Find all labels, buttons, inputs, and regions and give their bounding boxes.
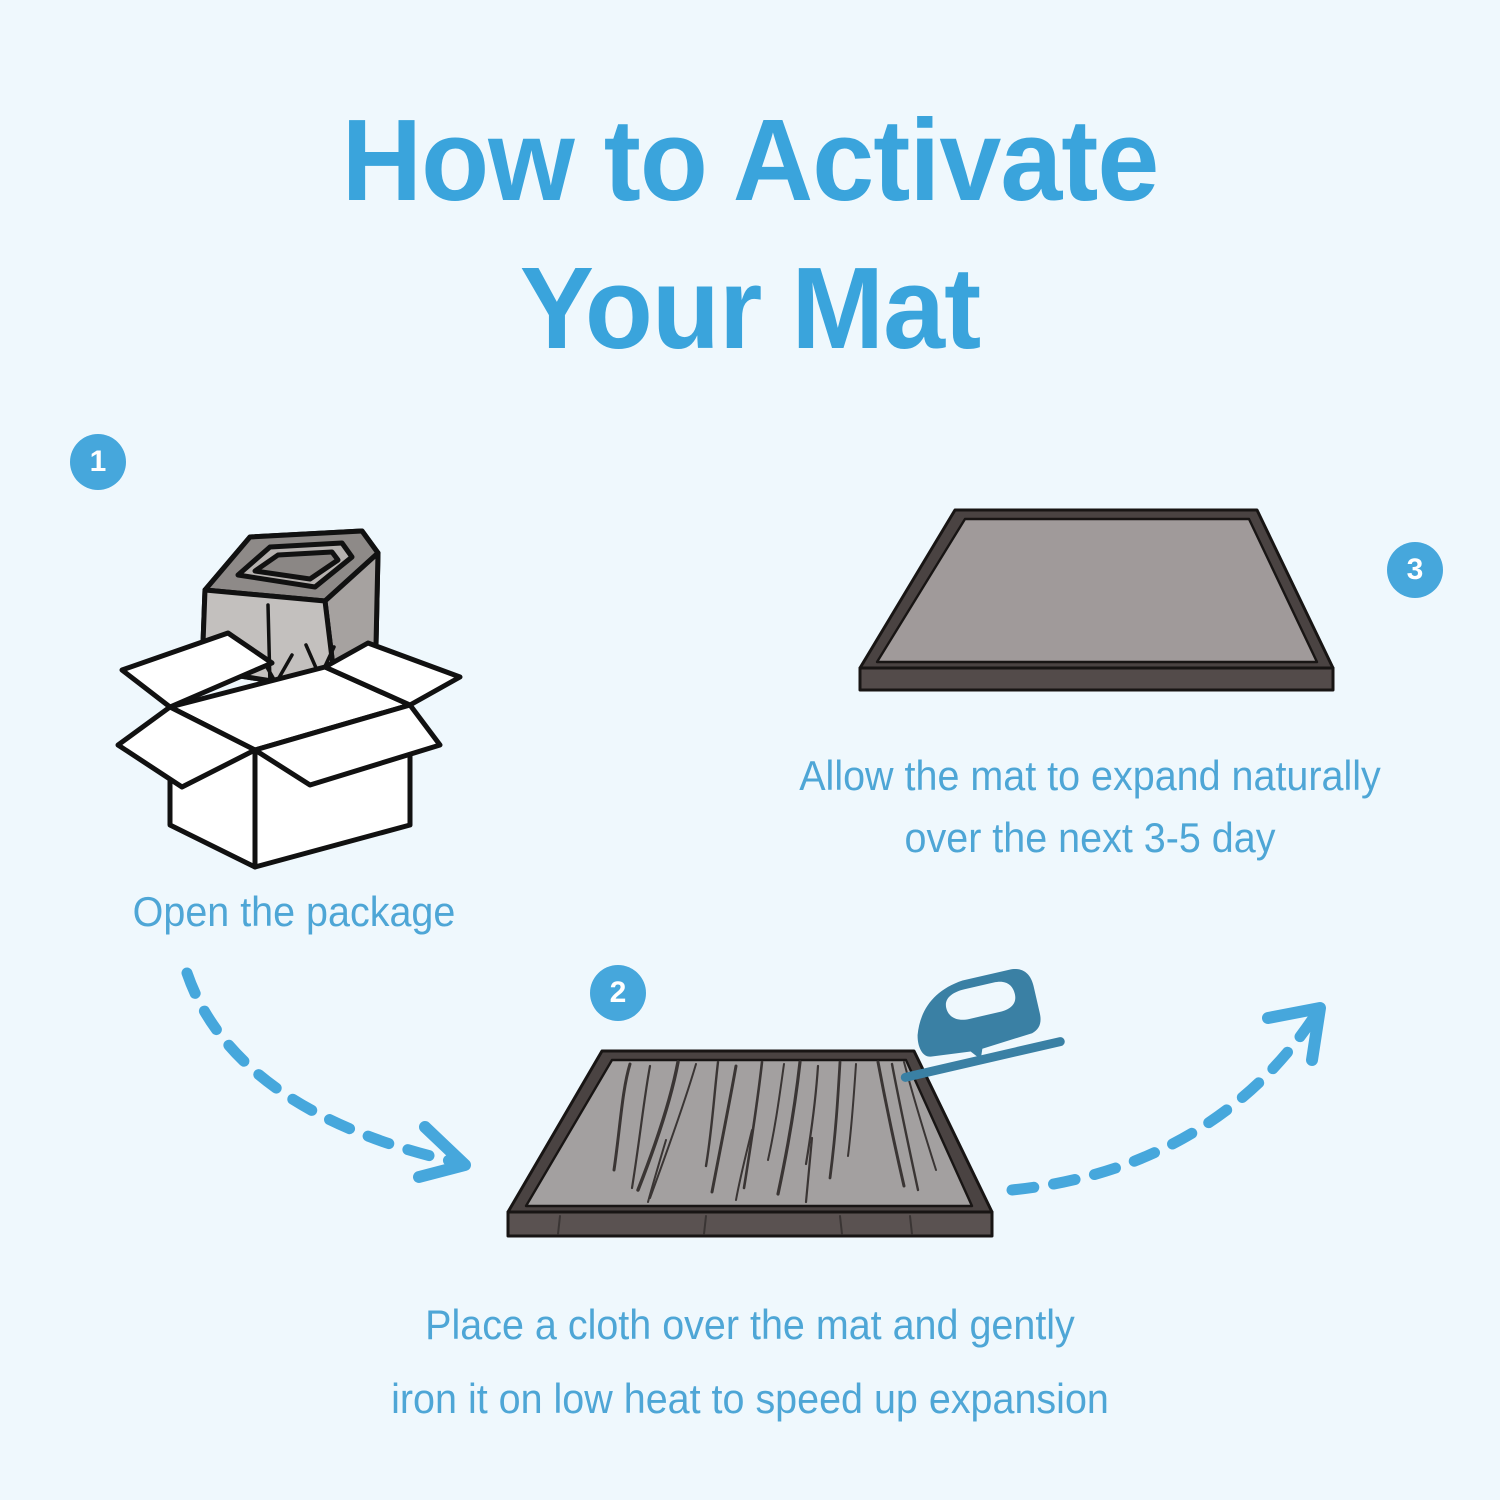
infographic-poster: How to Activate Your Mat 1 2 3 (0, 0, 1500, 1500)
title-line-2: Your Mat (30, 234, 1470, 382)
step-badge-1: 1 (70, 434, 126, 490)
step-3-caption-line-1: Allow the mat to expand naturally (705, 745, 1476, 807)
step-2-caption: Place a cloth over the mat and gently ir… (261, 1288, 1239, 1436)
title-line-1: How to Activate (30, 86, 1470, 234)
step-3-caption-line-2: over the next 3-5 day (705, 807, 1476, 869)
step-2-caption-line-2: iron it on low heat to speed up expansio… (261, 1362, 1239, 1436)
step-2-caption-line-1: Place a cloth over the mat and gently (261, 1288, 1239, 1362)
arrow-step2-to-step3 (1000, 990, 1350, 1230)
page-title: How to Activate Your Mat (30, 86, 1470, 382)
step-3-caption: Allow the mat to expand naturally over t… (705, 745, 1476, 869)
step-1-caption: Open the package (36, 881, 551, 943)
expanded-mat-illustration (855, 478, 1355, 713)
step-1-caption-line-1: Open the package (36, 881, 551, 943)
step-badge-3: 3 (1387, 542, 1443, 598)
arrow-step1-to-step2 (175, 965, 505, 1205)
open-box-illustration (110, 495, 510, 885)
step-badge-2: 2 (590, 965, 646, 1021)
